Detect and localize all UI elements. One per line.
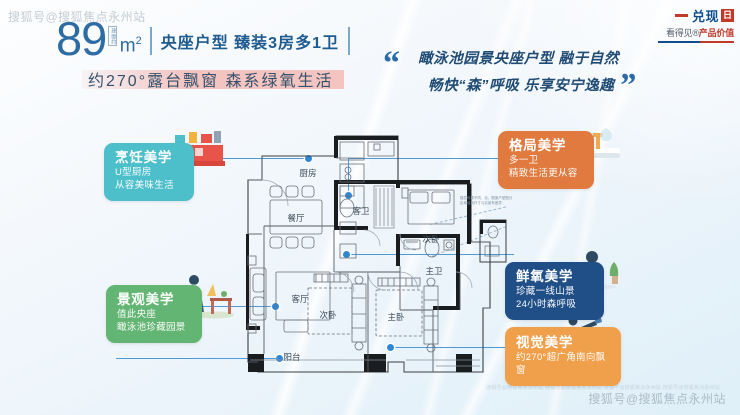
quote-line-2-text: 畅快“森”呼吸 乐享安宁逸趣: [428, 78, 614, 94]
callout-fresh-air[interactable]: 鲜氧美学 珍藏一线山景 24小时森呼吸: [505, 262, 604, 320]
brand-tagline: 看得见®产品价值: [658, 26, 734, 39]
brand-logo-row: 兑现 日: [658, 6, 734, 25]
quote-lines: 瞰泳池园景央座户型 融于自然 畅快“森”呼吸 乐享安宁逸趣”: [418, 48, 636, 98]
callout-landscape[interactable]: 景观美学 值此央座 瞰泳池珍藏园景: [106, 285, 202, 343]
floorplan: 厨房 餐厅 客卫 次卧 客厅 次卧 主卫 主卧 阳台: [228, 122, 510, 380]
watermark-bottom: 搜狐号@搜狐焦点永州站: [588, 390, 726, 407]
callout-cooking-title: 烹饪美学: [115, 150, 184, 166]
room-label-bedroom-2-south: 次卧: [319, 310, 337, 320]
callout-layout-line-1: 多一卫: [509, 154, 584, 168]
area-number: 89: [56, 18, 106, 60]
callout-layout-line-2: 精致生活更从容: [509, 167, 584, 181]
floorplan-drawing: 厨房 餐厅 客卫 次卧 客厅 次卧 主卫 主卧 阳台: [228, 122, 510, 380]
callout-landscape-line-1: 值此央座: [117, 308, 192, 322]
callout-fresh-air-line-1: 珍藏一线山景: [516, 285, 594, 299]
callout-vision-title: 视觉美学: [516, 335, 611, 351]
room-label-kitchen: 厨房: [299, 168, 316, 178]
callout-cooking-line-2: 从容美味生活: [115, 179, 184, 193]
area-unit-text: m: [120, 35, 136, 56]
brand-underline: [658, 41, 734, 43]
subtitle-text: 约270°露台飘窗 森系绿氧生活: [88, 73, 334, 90]
room-label-guest-bath: 客卫: [352, 206, 370, 216]
room-label-master: 主卧: [387, 312, 405, 322]
floorplan-disclaimer: 楼层栋株不同，北，图案户型图分区域结构尺寸与实景有差异: [460, 196, 514, 206]
brand-square-badge: 日: [721, 9, 734, 22]
room-label-bedroom-2-north: 次卧: [422, 234, 440, 244]
room-label-dining: 餐厅: [287, 213, 305, 223]
room-label-living: 客厅: [291, 294, 309, 304]
quote-open-icon: “: [383, 54, 400, 74]
callout-layout-title: 格局美学: [509, 138, 584, 154]
advertisement-canvas: 搜狐号@搜狐焦点永州站 搜狐号@搜狐焦点永州站 搜狐号@搜狐焦点永州站 搜狐号@…: [0, 0, 740, 415]
callout-cooking[interactable]: 烹饪美学 U型厨房 从容美味生活: [104, 143, 194, 201]
callout-fresh-air-title: 鲜氧美学: [516, 269, 594, 285]
quote-block: “ 瞰泳池园景央座户型 融于自然 畅快“森”呼吸 乐享安宁逸趣”: [383, 48, 636, 98]
quote-close-icon: ”: [618, 76, 636, 96]
callout-layout[interactable]: 格局美学 多一卫 精致生活更从容: [498, 131, 594, 189]
room-label-master-bath: 主卫: [425, 266, 443, 276]
area-unit: m2: [120, 35, 142, 57]
callout-cooking-line-1: U型厨房: [115, 166, 184, 180]
brand-tagline-gray: 看得见: [666, 28, 692, 38]
header-primary-row: 89 建面约 m2 央座户型 臻装3房多1卫: [56, 18, 350, 60]
type-badge: 央座户型 臻装3房多1卫: [150, 27, 350, 55]
header-subtitle: 约270°露台飘窗 森系绿氧生活: [88, 67, 334, 91]
callout-vision-line-1: 约270°超广角南向飘窗: [516, 351, 611, 379]
area-unit-superscript: 2: [136, 35, 142, 47]
callout-landscape-line-2: 瞰泳池珍藏园景: [117, 321, 192, 335]
type-badge-label: 央座户型 臻装3房多1卫: [161, 35, 339, 52]
quote-line-2: 畅快“森”呼吸 乐享安宁逸趣”: [428, 70, 636, 97]
callout-fresh-air-line-2: 24小时森呼吸: [516, 298, 594, 312]
callout-vision[interactable]: 视觉美学 约270°超广角南向飘窗: [505, 327, 621, 386]
brand-logo: 兑现 日 看得见®产品价值: [658, 6, 734, 43]
callout-landscape-title: 景观美学: [117, 292, 192, 308]
area-vertical-note: 建面约: [108, 26, 117, 47]
quote-line-1: 瞰泳池园景央座户型 融于自然: [418, 48, 636, 70]
brand-tagline-red: 产品价值: [699, 28, 734, 38]
brand-accent-bar: [675, 14, 688, 17]
brand-main-text: 兑现: [692, 6, 719, 25]
room-label-balcony: 阳台: [283, 352, 300, 362]
header-block: 89 建面约 m2 央座户型 臻装3房多1卫 约270°露台飘窗 森系绿氧生活: [56, 18, 350, 91]
